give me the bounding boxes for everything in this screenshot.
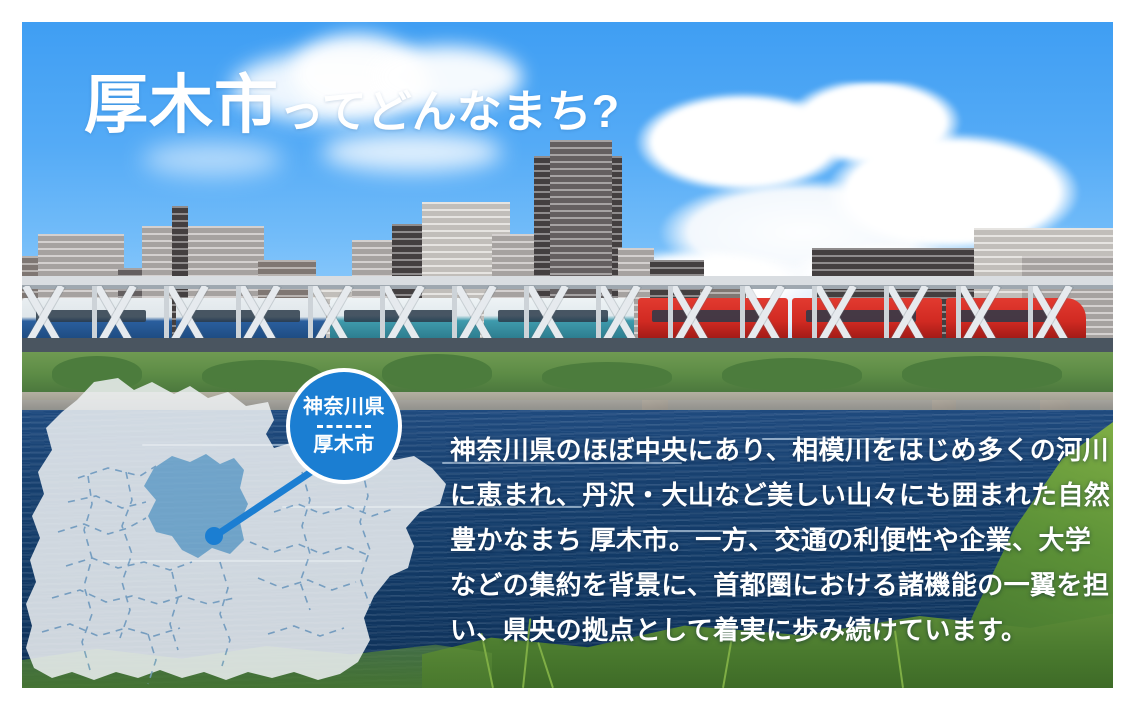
bridge-top-chord	[22, 276, 1113, 285]
badge-city-label: 厚木市	[313, 434, 375, 456]
description-line: 豊かなまち 厚木市。一方、交通の利便性や企業、大学	[450, 518, 1110, 563]
truss-bridge	[22, 276, 1113, 360]
description-line: い、県央の拠点として着実に歩み続けています。	[450, 608, 1110, 653]
badge-separator	[317, 425, 371, 428]
bridge-truss-lattice	[22, 286, 1113, 340]
title-main: 厚木市	[84, 69, 279, 141]
page-title: 厚木市ってどんなまち?	[84, 73, 619, 137]
description-line: に恵まれ、丹沢・大山など美しい山々にも囲まれた自然	[450, 473, 1110, 518]
description-line: などの集約を背景に、首都圏における諸機能の一翼を担	[450, 563, 1110, 608]
title-suffix: ってどんなまち?	[279, 86, 619, 137]
description-text: 神奈川県のほぼ中央にあり、相模川をはじめ多くの河川 に恵まれ、丹沢・大山など美し…	[450, 428, 1110, 653]
poster-frame: 厚木市ってどんなまち? 神奈川県 厚木市 神奈川県のほぼ中央にあり、相模川をはじ…	[0, 0, 1138, 708]
badge-prefecture-label: 神奈川県	[303, 396, 385, 418]
location-badge: 神奈川県 厚木市	[286, 368, 402, 484]
description-line: 神奈川県のほぼ中央にあり、相模川をはじめ多くの河川	[450, 428, 1110, 473]
